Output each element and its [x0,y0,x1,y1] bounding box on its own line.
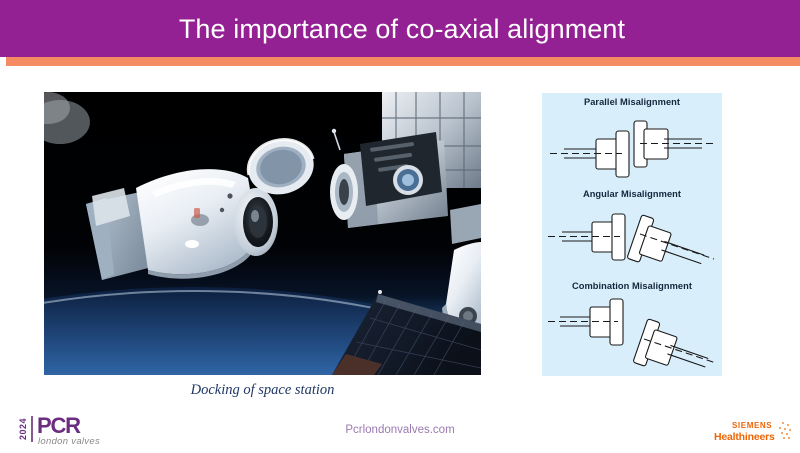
diagram-label-angular: Angular Misalignment [542,189,722,199]
combination-misalignment-art [544,293,720,371]
siemens-logo-art: SIEMENS Healthineers [714,417,794,445]
misalignment-diagram-panel: Parallel Misalignment Angular Mis [542,93,722,376]
siemens-healthineers-logo: SIEMENS Healthineers [714,417,794,445]
title-band: The importance of co-axial alignment [0,0,800,57]
pcr-logo-year: 2024 [18,418,28,440]
photo-illustration [44,92,481,375]
diagram-block-combination: Combination Misalignment [542,281,722,375]
page-title: The importance of co-axial alignment [179,14,625,45]
pcr-logo-mark: PCR [37,413,81,438]
title-band-inner: The importance of co-axial alignment [6,2,798,56]
pcr-london-valves-logo: 2024 PCR london valves [16,410,136,448]
diagram-label-parallel: Parallel Misalignment [542,97,722,107]
spacecraft-docking-photo [44,92,481,375]
pcr-logo-subtitle: london valves [38,436,100,447]
pcr-logo-art: 2024 PCR london valves [16,410,136,448]
diagram-label-combination: Combination Misalignment [542,281,722,291]
angular-misalignment-art [544,201,720,275]
parallel-misalignment-art [544,109,720,183]
siemens-healthineers-dots-icon [779,422,791,439]
diagram-block-parallel: Parallel Misalignment [542,97,722,187]
siemens-logo-line2: Healthineers [714,431,775,443]
accent-bar [6,57,800,66]
siemens-logo-line1: SIEMENS [732,421,772,430]
photo-caption: Docking of space station [44,382,481,399]
diagram-block-angular: Angular Misalignment [542,189,722,279]
